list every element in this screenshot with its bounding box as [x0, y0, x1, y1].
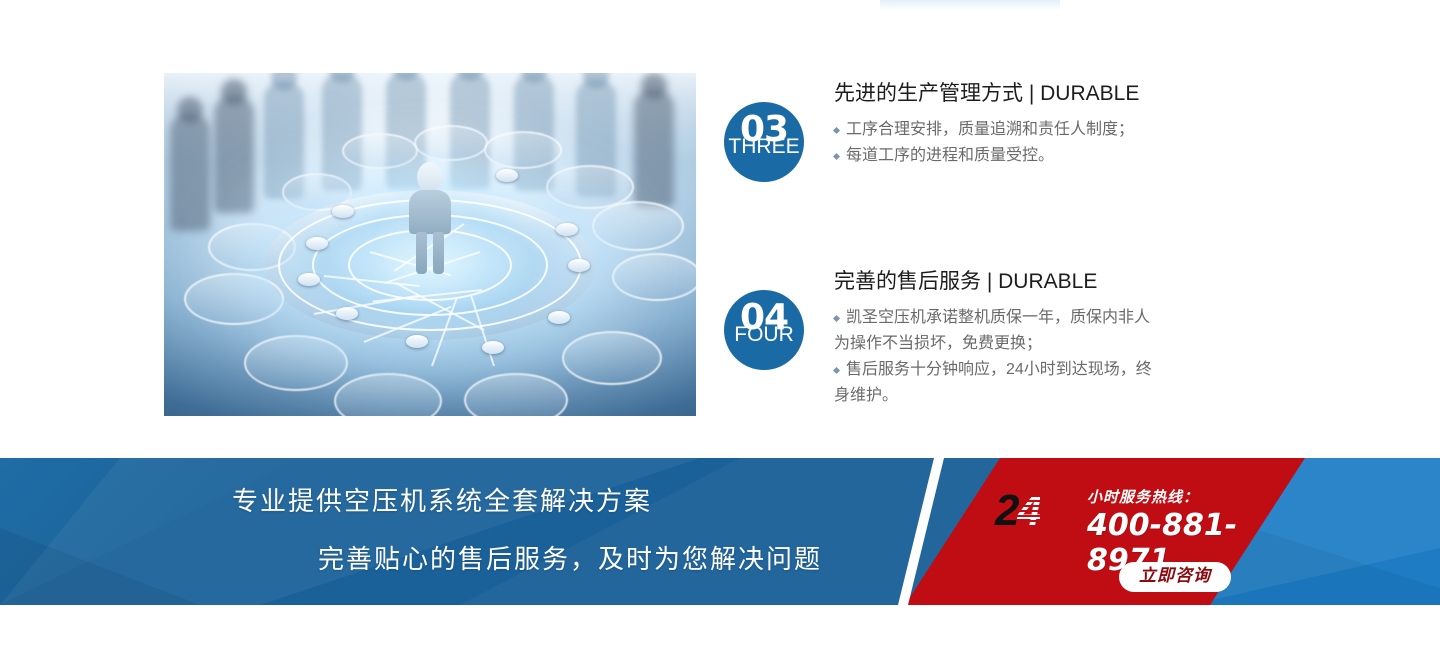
concept-photo: [164, 73, 696, 416]
hotline-digit-4: 4: [1017, 486, 1039, 535]
feature-item-04: 04 FOUR 完善的售后服务 | DURABLE 凯圣空压机承诺整机质保一年，…: [724, 268, 1264, 409]
features-section: 03 THREE 先进的生产管理方式 | DURABLE 工序合理安排，质量追溯…: [0, 0, 1440, 455]
badge-number-03: 03 THREE: [724, 102, 804, 182]
feature-bullet-line-continuation: 为操作不当损坏，免费更换；: [834, 331, 1264, 357]
feature-bullet-line: 凯圣空压机承诺整机质保一年，质保内非人: [834, 305, 1264, 331]
consult-now-button[interactable]: 立即咨询: [1119, 562, 1231, 592]
badge-number-04: 04 FOUR: [724, 290, 804, 370]
feature-title: 先进的生产管理方式 | DURABLE: [834, 80, 1264, 107]
feature-bullet-list: 凯圣空压机承诺整机质保一年，质保内非人 为操作不当损坏，免费更换； 售后服务十分…: [834, 305, 1264, 409]
feature-body: 先进的生产管理方式 | DURABLE 工序合理安排，质量追溯和责任人制度； 每…: [724, 80, 1264, 169]
banner-slogan-block: 专业提供空压机系统全套解决方案 完善贴心的售后服务，及时为您解决问题: [0, 458, 905, 605]
badge-word-text: THREE: [724, 136, 804, 157]
photo-person-figure: [409, 162, 451, 272]
feature-title: 完善的售后服务 | DURABLE: [834, 268, 1264, 295]
feature-item-03: 03 THREE 先进的生产管理方式 | DURABLE 工序合理安排，质量追溯…: [724, 80, 1264, 200]
banner-slogan-line-2: 完善贴心的售后服务，及时为您解决问题: [318, 546, 822, 572]
hotline-block: 24 小时服务热线： 400-881-8971 立即咨询: [995, 484, 1315, 594]
banner-slogan-line-1: 专业提供空压机系统全套解决方案: [232, 488, 652, 514]
badge-word-text: FOUR: [724, 324, 804, 345]
feature-bullet-line: 每道工序的进程和质量受控。: [834, 143, 1264, 169]
feature-bullet-line: 工序合理安排，质量追溯和责任人制度；: [834, 117, 1264, 143]
hotline-24-mark: 24: [995, 486, 1085, 538]
hotline-digit-2: 2: [995, 486, 1017, 535]
feature-list: 03 THREE 先进的生产管理方式 | DURABLE 工序合理安排，质量追溯…: [724, 80, 1264, 409]
feature-bullet-list: 工序合理安排，质量追溯和责任人制度； 每道工序的进程和质量受控。: [834, 117, 1264, 169]
bottom-cta-banner: 专业提供空压机系统全套解决方案 完善贴心的售后服务，及时为您解决问题 24 小时…: [0, 458, 1440, 605]
feature-body: 完善的售后服务 | DURABLE 凯圣空压机承诺整机质保一年，质保内非人 为操…: [724, 268, 1264, 409]
feature-bullet-line-continuation: 身维护。: [834, 383, 1264, 409]
hotline-label: 小时服务热线：: [1087, 486, 1199, 507]
feature-bullet-line: 售后服务十分钟响应，24小时到达现场，终: [834, 357, 1264, 383]
